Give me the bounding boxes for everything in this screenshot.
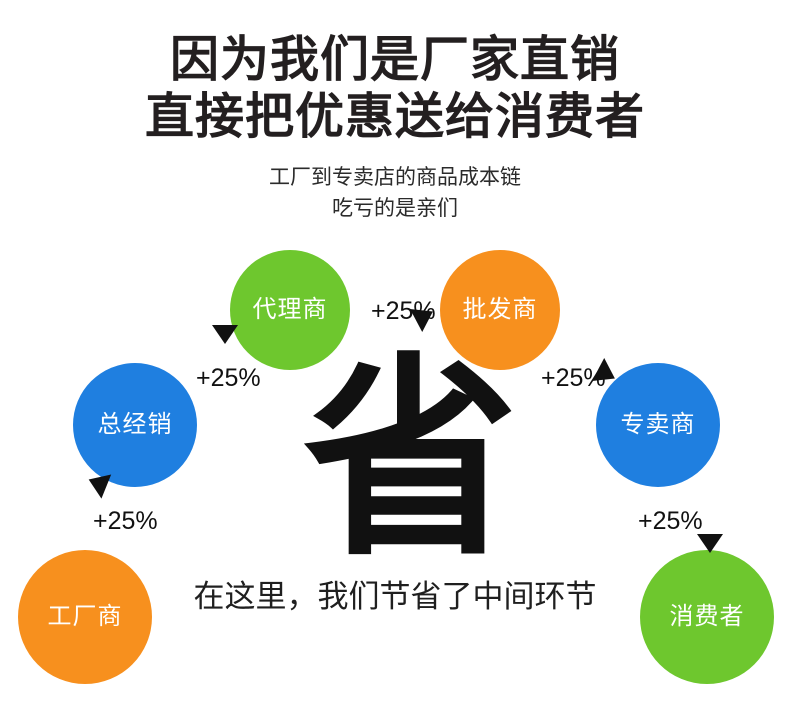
node-label-factory: 工厂商: [48, 605, 123, 629]
node-label-wholesaler: 批发商: [463, 298, 538, 322]
flow-arrow-icon-factory-to-distributor: [84, 467, 111, 498]
subtitle-line-2: 吃亏的是亲们: [0, 195, 790, 222]
node-label-consumer: 消费者: [670, 605, 745, 629]
flow-arrow-icon-distributor-to-agent: [212, 325, 238, 344]
node-label-dealer: 专卖商: [621, 413, 696, 437]
node-wholesaler[interactable]: 批发商: [440, 250, 560, 370]
headline-line-2: 直接把优惠送给消费者: [0, 90, 790, 145]
big-save-character: 省: [303, 352, 503, 567]
flow-arrow-icon-dealer-to-consumer: [697, 534, 723, 553]
node-dealer[interactable]: 专卖商: [596, 363, 720, 487]
headline-line-1: 因为我们是厂家直销: [0, 33, 790, 88]
infographic-canvas: 因为我们是厂家直销 直接把优惠送给消费者 工厂到专卖店的商品成本链 吃亏的是亲们…: [0, 0, 790, 718]
node-consumer[interactable]: 消费者: [640, 550, 774, 684]
markup-label-distributor-to-agent: +25%: [196, 366, 261, 391]
node-factory[interactable]: 工厂商: [18, 550, 152, 684]
node-label-distributor: 总经销: [98, 413, 173, 437]
subtitle-line-1: 工厂到专卖店的商品成本链: [0, 164, 790, 191]
node-label-agent: 代理商: [253, 298, 328, 322]
markup-label-dealer-to-consumer: +25%: [638, 509, 703, 534]
node-agent[interactable]: 代理商: [230, 250, 350, 370]
node-distributor[interactable]: 总经销: [73, 363, 197, 487]
markup-label-factory-to-distributor: +25%: [93, 509, 158, 534]
